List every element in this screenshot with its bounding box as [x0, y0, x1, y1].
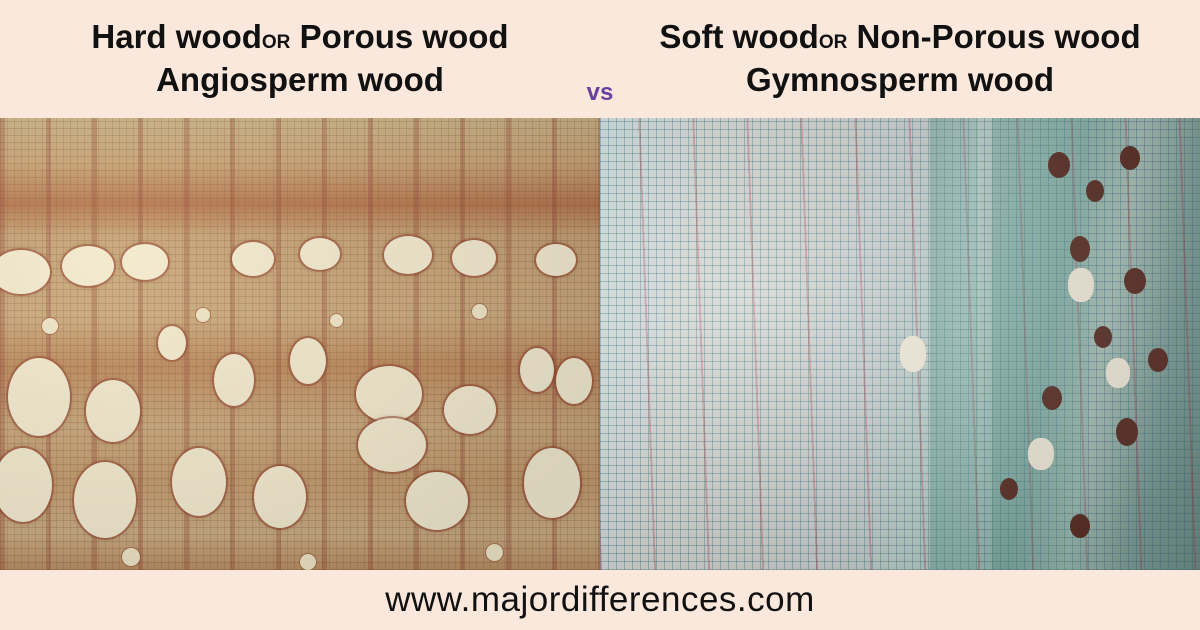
comparison-infographic: Hard woodOR Porous wood Angiosperm wood …	[0, 0, 1200, 630]
right-title-line1: Soft woodOR Non-Porous wood	[600, 18, 1200, 57]
vessel-pore	[300, 238, 340, 270]
vessel-pore	[214, 354, 254, 406]
softwood-shade	[600, 118, 1200, 570]
left-title-line1: Hard woodOR Porous wood	[0, 18, 600, 57]
website-url: www.majordifferences.com	[385, 580, 815, 620]
small-pore	[486, 544, 503, 561]
small-pore	[300, 554, 316, 570]
small-pore	[472, 304, 487, 319]
small-pore	[42, 318, 58, 334]
left-title-term-a: Hard wood	[91, 18, 262, 55]
small-pore	[122, 548, 140, 566]
resin-cell	[1086, 180, 1104, 202]
small-pore	[330, 314, 343, 327]
vessel-pore	[520, 348, 554, 392]
vessel-pore	[254, 466, 306, 528]
versus-label: vs	[587, 79, 614, 107]
resin-cell	[1120, 146, 1140, 170]
resin-cell	[1070, 236, 1090, 262]
light-cell	[1028, 438, 1054, 470]
right-title-term-a: Soft wood	[659, 18, 818, 55]
vessel-pore	[62, 246, 114, 286]
left-title-block: Hard woodOR Porous wood Angiosperm wood	[0, 18, 600, 100]
vessel-pore	[74, 462, 136, 538]
vessel-pore	[172, 448, 226, 516]
vessel-pore	[0, 250, 50, 294]
left-title-or: OR	[262, 32, 291, 53]
light-cell	[1068, 268, 1094, 302]
vessel-pore	[444, 386, 496, 434]
resin-cell	[1124, 268, 1146, 294]
vessel-pore	[358, 418, 426, 472]
vessel-pore	[158, 326, 186, 360]
vessel-pore	[536, 244, 576, 276]
light-cell	[1106, 358, 1130, 388]
right-title-or: OR	[819, 32, 848, 53]
vessel-pore	[86, 380, 140, 442]
small-pore	[196, 308, 210, 322]
left-title-term-b: Porous wood	[300, 18, 509, 55]
header: Hard woodOR Porous wood Angiosperm wood …	[0, 0, 1200, 118]
image-strip	[0, 118, 1200, 570]
resin-cell	[1048, 152, 1070, 178]
vessel-pore	[122, 244, 168, 280]
softwood-micrograph	[600, 118, 1200, 570]
vessel-pore	[232, 242, 274, 276]
right-title-term-b: Non-Porous wood	[857, 18, 1141, 55]
right-title-block: Soft woodOR Non-Porous wood Gymnosperm w…	[600, 18, 1200, 100]
vessel-pore	[290, 338, 326, 384]
vessel-pore	[8, 358, 70, 436]
growth-band	[930, 118, 978, 570]
vessel-pore	[0, 448, 52, 522]
left-title-line2: Angiosperm wood	[0, 61, 600, 100]
resin-cell	[1000, 478, 1018, 500]
vessel-pore	[524, 448, 580, 518]
vessel-pore	[406, 472, 468, 530]
growth-band	[992, 118, 1088, 570]
hardwood-micrograph	[0, 118, 600, 570]
footer: www.majordifferences.com	[0, 570, 1200, 630]
resin-cell	[1116, 418, 1138, 446]
vessel-pore	[452, 240, 496, 276]
resin-cell	[1042, 386, 1062, 410]
light-cell	[900, 336, 926, 372]
resin-cell	[1094, 326, 1112, 348]
vessel-pore	[556, 358, 592, 404]
vessel-pore	[356, 366, 422, 422]
resin-cell	[1148, 348, 1168, 372]
vessel-pore	[384, 236, 432, 274]
right-title-line2: Gymnosperm wood	[600, 61, 1200, 100]
resin-cell	[1070, 514, 1090, 538]
